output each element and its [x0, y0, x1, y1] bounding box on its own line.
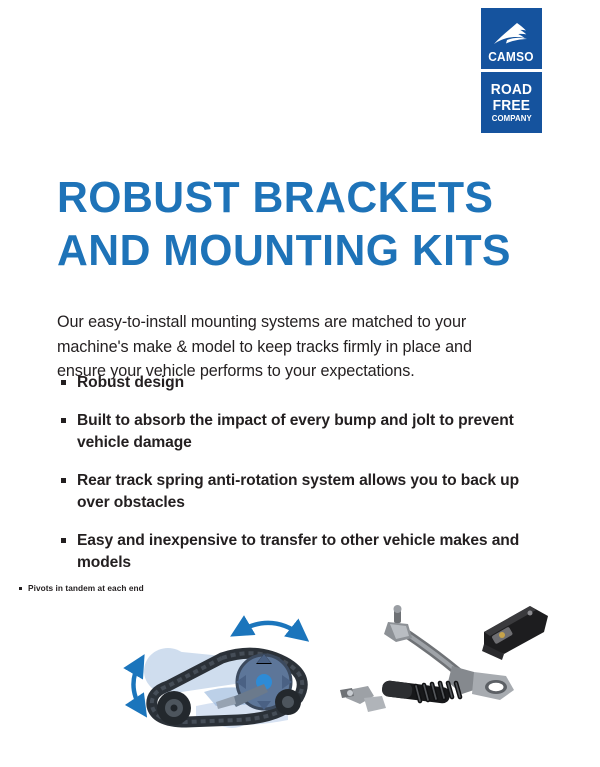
feature-list-item: Easy and inexpensive to transfer to othe…: [60, 530, 530, 575]
feature-list-item-label: Robust design: [77, 374, 184, 391]
pivot-arrow-top: [238, 623, 302, 636]
camso-logo: CAMSO: [481, 8, 542, 69]
feature-list-item-label: Built to absorb the impact of every bump…: [77, 412, 514, 452]
footnote: Pivots in tandem at each end: [19, 583, 144, 593]
square-bullet-icon: [61, 538, 66, 543]
feature-list-item-label: Rear track spring anti-rotation system a…: [77, 472, 519, 512]
figure-area: [0, 598, 600, 738]
rubber-track-pivot-diagram: [112, 606, 327, 734]
page-title-line-2: AND MOUNTING KITS: [57, 224, 513, 277]
road-free-line-3: COMPANY: [491, 114, 531, 123]
feature-list: Robust design Built to absorb the impact…: [60, 372, 530, 575]
camso-chevron-mark: [492, 22, 532, 48]
feature-list-item: Built to absorb the impact of every bump…: [60, 410, 530, 455]
mounting-bracket-hardware-photo: [334, 598, 560, 730]
road-free-company-logo: ROAD FREE COMPANY: [481, 72, 542, 133]
road-free-line-1: ROAD: [491, 82, 532, 97]
camso-wordmark: CAMSO: [489, 51, 535, 64]
road-free-line-2: FREE: [493, 98, 531, 113]
feature-list-item-label: Easy and inexpensive to transfer to othe…: [77, 532, 519, 572]
square-bullet-icon: [19, 587, 22, 590]
brand-logo-stack: CAMSO ROAD FREE COMPANY: [481, 8, 542, 133]
square-bullet-icon: [61, 380, 66, 385]
pivot-arrow-left: [133, 662, 142, 710]
feature-list-item: Rear track spring anti-rotation system a…: [60, 470, 530, 515]
square-bullet-icon: [61, 418, 66, 423]
page-title: ROBUST BRACKETS AND MOUNTING KITS: [57, 171, 513, 277]
square-bullet-icon: [61, 478, 66, 483]
feature-list-item: Robust design: [60, 372, 530, 395]
page-title-line-1: ROBUST BRACKETS: [57, 171, 513, 224]
footnote-label: Pivots in tandem at each end: [28, 583, 144, 593]
